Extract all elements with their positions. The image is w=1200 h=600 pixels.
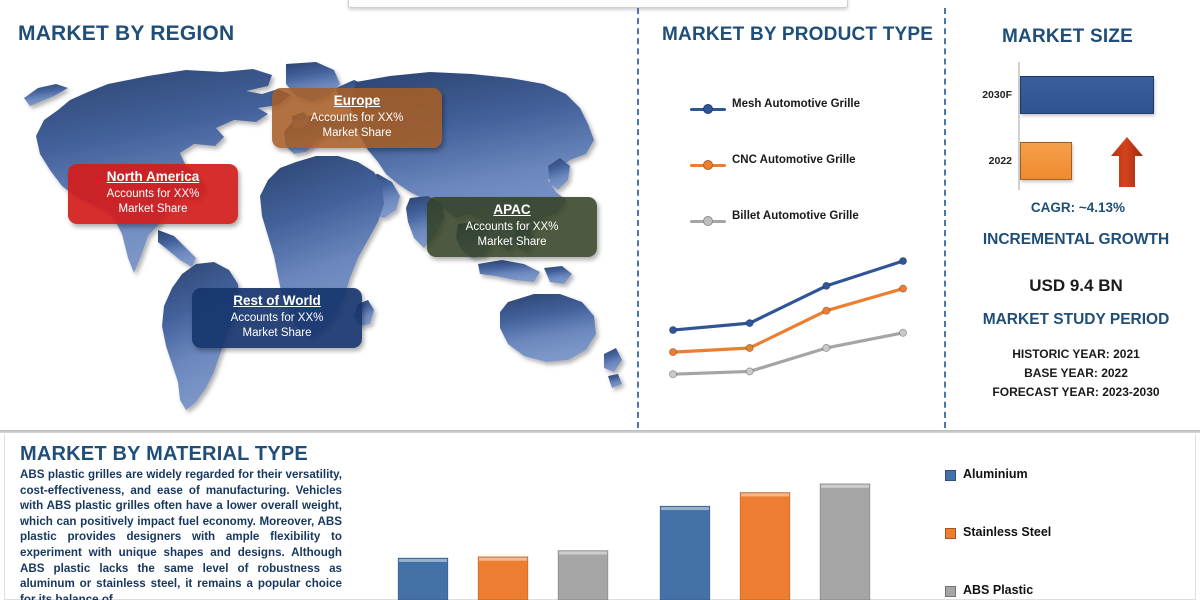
region-name: Rest of World [202, 293, 352, 309]
legend-item-aluminium[interactable]: Aluminium [945, 470, 1175, 528]
region-share-line-1: Accounts for XX% [282, 111, 432, 126]
bar [558, 551, 608, 600]
page-title-market-size: MARKET SIZE [1002, 26, 1133, 48]
market-size-bar-row-2022: 2022 [960, 142, 1072, 180]
bar-highlight [661, 507, 709, 510]
region-callout-apac[interactable]: APAC Accounts for XX% Market Share [427, 197, 597, 257]
data-point [899, 257, 906, 264]
data-point [669, 349, 676, 356]
data-point [669, 371, 676, 378]
market-size-bar-row-2030: 2030F [960, 76, 1154, 114]
line-series [673, 261, 903, 330]
vertical-divider-right [944, 8, 946, 428]
material-type-bar-chart [380, 460, 920, 600]
bar-category-label: 2030F [960, 89, 1012, 101]
line-marker-icon [690, 160, 726, 170]
bar [398, 558, 448, 600]
region-name: APAC [437, 202, 587, 218]
horizontal-divider [0, 430, 1200, 433]
bar-highlight [741, 493, 789, 496]
region-share-line-1: Accounts for XX% [437, 220, 587, 235]
top-title-banner [348, 0, 848, 8]
line-marker-icon [690, 104, 726, 114]
color-swatch-icon [945, 470, 956, 481]
bar-highlight [479, 558, 527, 561]
study-period-base: BASE YEAR: 2022 [952, 364, 1200, 383]
region-share-line-2: Market Share [78, 202, 228, 217]
region-share-line-2: Market Share [437, 235, 587, 250]
region-callout-rest-of-world[interactable]: Rest of World Accounts for XX% Market Sh… [192, 288, 362, 348]
growth-arrow-icon [1110, 136, 1144, 188]
bar [660, 506, 710, 600]
line-series [673, 289, 903, 352]
data-point [669, 326, 676, 333]
region-callout-north-america[interactable]: North America Accounts for XX% Market Sh… [68, 164, 238, 224]
cagr-value: CAGR: ~4.13% [960, 200, 1196, 215]
infographic-page: MARKET BY REGION [0, 0, 1200, 600]
data-point [899, 329, 906, 336]
bar-category-label: 2022 [960, 155, 1012, 167]
legend-label: CNC Automotive Grille [732, 154, 856, 166]
material-type-legend: Aluminium Stainless Steel ABS Plastic [945, 470, 1175, 600]
color-swatch-icon [945, 528, 956, 539]
bar [478, 557, 528, 600]
legend-label: Billet Automotive Grille [732, 210, 859, 222]
incremental-growth-value: USD 9.4 BN [952, 276, 1200, 296]
bar-highlight [559, 552, 607, 555]
region-name: Europe [282, 93, 432, 109]
page-title-market-by-product-type: MARKET BY PRODUCT TYPE [662, 24, 933, 46]
legend-item-stainless-steel[interactable]: Stainless Steel [945, 528, 1175, 586]
legend-label: Stainless Steel [963, 525, 1051, 539]
page-title-market-by-material-type: MARKET BY MATERIAL TYPE [20, 443, 308, 466]
data-point [899, 285, 906, 292]
legend-item-mesh[interactable]: Mesh Automotive Grille [690, 100, 930, 156]
region-share-line-2: Market Share [202, 326, 352, 341]
color-swatch-icon [945, 586, 956, 597]
bar-highlight [399, 559, 447, 562]
data-point [823, 282, 830, 289]
incremental-growth-title: INCREMENTAL GROWTH [952, 231, 1200, 249]
market-study-period-list: HISTORIC YEAR: 2021 BASE YEAR: 2022 FORE… [952, 345, 1200, 402]
bar-2030 [1020, 76, 1154, 114]
legend-item-cnc[interactable]: CNC Automotive Grille [690, 156, 930, 212]
product-type-line-chart [655, 238, 920, 403]
region-callout-europe[interactable]: Europe Accounts for XX% Market Share [272, 88, 442, 148]
bar-highlight [821, 485, 869, 488]
bar [740, 492, 790, 600]
vertical-divider-left [637, 8, 639, 428]
data-point [823, 344, 830, 351]
material-type-description: ABS plastic grilles are widely regarded … [20, 467, 342, 600]
legend-label: Aluminium [963, 467, 1028, 481]
line-series [673, 333, 903, 374]
market-study-period-title: MARKET STUDY PERIOD [952, 311, 1200, 329]
page-title-market-by-region: MARKET BY REGION [18, 22, 234, 46]
data-point [746, 320, 753, 327]
data-point [823, 307, 830, 314]
bar-2022 [1020, 142, 1072, 180]
line-marker-icon [690, 216, 726, 226]
data-point [746, 344, 753, 351]
legend-label: ABS Plastic [963, 583, 1033, 597]
region-share-line-1: Accounts for XX% [202, 311, 352, 326]
region-share-line-2: Market Share [282, 126, 432, 141]
data-point [746, 368, 753, 375]
region-share-line-1: Accounts for XX% [78, 187, 228, 202]
market-size-chart: 2030F 2022 [960, 58, 1196, 208]
legend-label: Mesh Automotive Grille [732, 98, 860, 110]
legend-item-abs-plastic[interactable]: ABS Plastic [945, 586, 1175, 600]
bar [820, 484, 870, 600]
study-period-forecast: FORECAST YEAR: 2023-2030 [952, 383, 1200, 402]
region-name: North America [78, 169, 228, 185]
study-period-historic: HISTORIC YEAR: 2021 [952, 345, 1200, 364]
